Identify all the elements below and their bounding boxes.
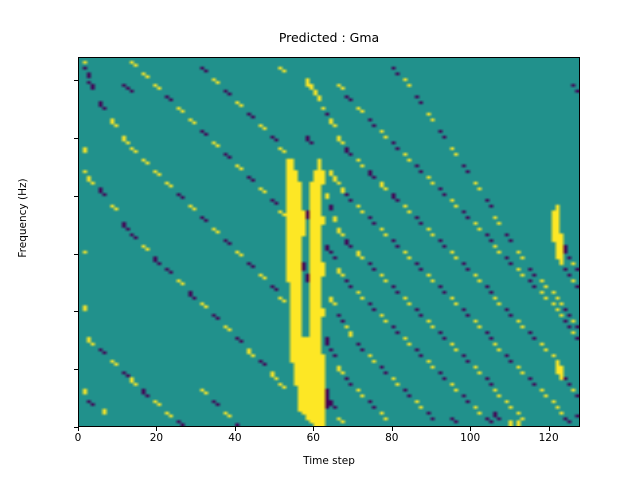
- x-tick-label: 80: [362, 432, 422, 444]
- y-tick-mark: [74, 138, 78, 139]
- x-tick-mark: [549, 427, 550, 431]
- x-tick-label: 120: [519, 432, 579, 444]
- x-axis-label: Time step: [78, 455, 580, 467]
- x-tick-mark: [313, 427, 314, 431]
- x-tick-mark: [392, 427, 393, 431]
- page-title: Predicted : Gma: [78, 30, 580, 45]
- matplotlib-figure: Predicted : Gma Frequency (Hz) Time step…: [0, 0, 640, 480]
- heatmap-axes: [78, 57, 580, 427]
- y-tick-mark: [74, 196, 78, 197]
- heatmap-image: [79, 58, 579, 426]
- y-tick-mark: [74, 254, 78, 255]
- x-tick-label: 20: [126, 432, 186, 444]
- x-tick-label: 60: [283, 432, 343, 444]
- x-tick-mark: [78, 427, 79, 431]
- x-tick-label: 0: [48, 432, 108, 444]
- x-tick-mark: [156, 427, 157, 431]
- x-tick-mark: [235, 427, 236, 431]
- y-tick-mark: [74, 80, 78, 81]
- y-tick-mark: [74, 369, 78, 370]
- x-tick-label: 100: [440, 432, 500, 444]
- y-axis-label: Frequency (Hz): [17, 93, 29, 343]
- x-tick-mark: [470, 427, 471, 431]
- x-tick-label: 40: [205, 432, 265, 444]
- y-tick-mark: [74, 311, 78, 312]
